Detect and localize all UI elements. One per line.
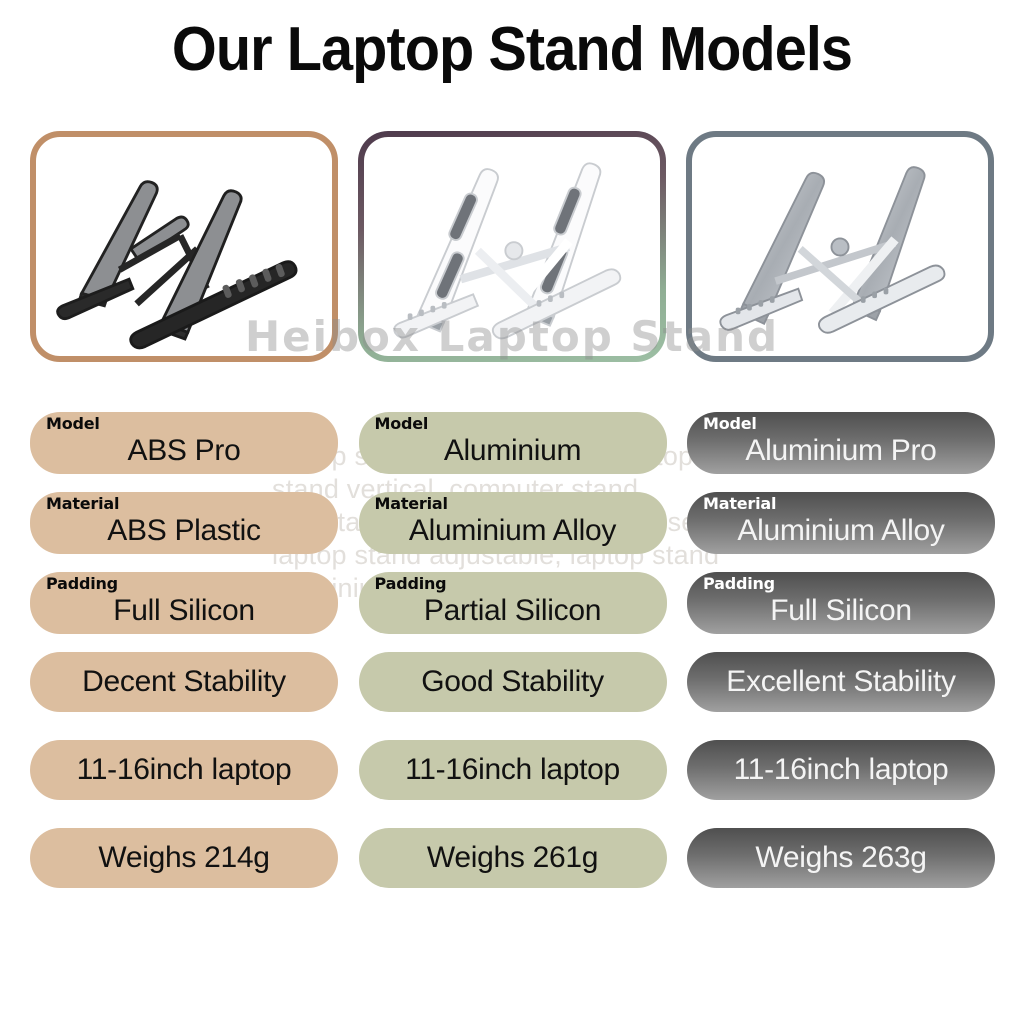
- laptop-stand-black-icon: [36, 137, 332, 356]
- pill-value-compatibility: 11-16inch laptop: [77, 753, 292, 787]
- pill-stability-abs-pro[interactable]: Decent Stability: [30, 652, 338, 712]
- spec-cell-weight-aluminium: Weighs 261g: [359, 828, 667, 888]
- spec-cell-stability-abs-pro: Decent Stability: [30, 652, 338, 712]
- pill-label-material: Material: [703, 495, 776, 513]
- spec-cell-model-aluminium: Model Aluminium: [359, 412, 667, 474]
- spec-cell-compatibility-aluminium: 11-16inch laptop: [359, 740, 667, 800]
- spec-row-weight: Weighs 214g Weighs 261g Weighs 263g: [30, 828, 995, 888]
- pill-value-weight: Weighs 261g: [427, 841, 598, 875]
- pill-padding-aluminium[interactable]: Padding Partial Silicon: [359, 572, 667, 634]
- spec-row-model: Model ABS Pro Model Aluminium Model Alum…: [30, 412, 995, 474]
- pill-label-material: Material: [375, 495, 448, 513]
- pill-label-model: Model: [375, 415, 429, 433]
- spec-row-material: Material ABS Plastic Material Aluminium …: [30, 492, 995, 554]
- pill-material-abs-pro[interactable]: Material ABS Plastic: [30, 492, 338, 554]
- spec-cell-material-abs-pro: Material ABS Plastic: [30, 492, 338, 554]
- pill-compatibility-aluminium-pro[interactable]: 11-16inch laptop: [687, 740, 995, 800]
- spec-cell-weight-aluminium-pro: Weighs 263g: [687, 828, 995, 888]
- spec-cell-weight-abs-pro: Weighs 214g: [30, 828, 338, 888]
- spec-row-padding: Padding Full Silicon Padding Partial Sil…: [30, 572, 995, 634]
- pill-value-weight: Weighs 263g: [755, 841, 926, 875]
- pill-weight-aluminium-pro[interactable]: Weighs 263g: [687, 828, 995, 888]
- spec-cell-padding-abs-pro: Padding Full Silicon: [30, 572, 338, 634]
- pill-value-weight: Weighs 214g: [98, 841, 269, 875]
- product-image-frame-abs-pro[interactable]: [30, 131, 338, 362]
- pill-value-padding: Full Silicon: [113, 578, 254, 628]
- pill-padding-aluminium-pro[interactable]: Padding Full Silicon: [687, 572, 995, 634]
- spec-cell-material-aluminium-pro: Material Aluminium Alloy: [687, 492, 995, 554]
- laptop-stand-white-icon: [364, 137, 660, 356]
- pill-model-abs-pro[interactable]: Model ABS Pro: [30, 412, 338, 474]
- spec-cell-padding-aluminium-pro: Padding Full Silicon: [687, 572, 995, 634]
- spec-cell-stability-aluminium: Good Stability: [359, 652, 667, 712]
- product-image-row: [30, 131, 994, 362]
- pill-value-stability: Excellent Stability: [726, 665, 955, 699]
- pill-weight-abs-pro[interactable]: Weighs 214g: [30, 828, 338, 888]
- spec-cell-padding-aluminium: Padding Partial Silicon: [359, 572, 667, 634]
- product-image-frame-aluminium-pro[interactable]: [686, 131, 994, 362]
- spec-comparison-grid: Model ABS Pro Model Aluminium Model Alum…: [30, 412, 995, 916]
- pill-compatibility-abs-pro[interactable]: 11-16inch laptop: [30, 740, 338, 800]
- pill-value-padding: Full Silicon: [770, 578, 911, 628]
- spec-cell-compatibility-abs-pro: 11-16inch laptop: [30, 740, 338, 800]
- pill-value-model: Aluminium: [444, 418, 581, 468]
- pill-value-model: ABS Pro: [128, 418, 241, 468]
- pill-label-model: Model: [703, 415, 757, 433]
- pill-label-padding: Padding: [375, 575, 447, 593]
- page-title: Our Laptop Stand Models: [36, 14, 988, 85]
- pill-stability-aluminium[interactable]: Good Stability: [359, 652, 667, 712]
- pill-label-material: Material: [46, 495, 119, 513]
- pill-value-stability: Good Stability: [421, 665, 604, 699]
- pill-value-compatibility: 11-16inch laptop: [734, 753, 949, 787]
- pill-value-model: Aluminium Pro: [745, 418, 936, 468]
- spec-row-compatibility: 11-16inch laptop 11-16inch laptop 11-16i…: [30, 740, 995, 800]
- pill-stability-aluminium-pro[interactable]: Excellent Stability: [687, 652, 995, 712]
- pill-weight-aluminium[interactable]: Weighs 261g: [359, 828, 667, 888]
- product-image-frame-aluminium[interactable]: [358, 131, 666, 362]
- pill-label-padding: Padding: [46, 575, 118, 593]
- pill-label-model: Model: [46, 415, 100, 433]
- pill-compatibility-aluminium[interactable]: 11-16inch laptop: [359, 740, 667, 800]
- pill-material-aluminium-pro[interactable]: Material Aluminium Alloy: [687, 492, 995, 554]
- pill-value-padding: Partial Silicon: [424, 578, 601, 628]
- spec-cell-model-abs-pro: Model ABS Pro: [30, 412, 338, 474]
- laptop-stand-silver-icon: [692, 137, 988, 356]
- pill-value-compatibility: 11-16inch laptop: [405, 753, 620, 787]
- pill-value-stability: Decent Stability: [82, 665, 286, 699]
- pill-model-aluminium[interactable]: Model Aluminium: [359, 412, 667, 474]
- spec-row-stability: Decent Stability Good Stability Excellen…: [30, 652, 995, 712]
- pill-model-aluminium-pro[interactable]: Model Aluminium Pro: [687, 412, 995, 474]
- pill-material-aluminium[interactable]: Material Aluminium Alloy: [359, 492, 667, 554]
- spec-cell-compatibility-aluminium-pro: 11-16inch laptop: [687, 740, 995, 800]
- pill-padding-abs-pro[interactable]: Padding Full Silicon: [30, 572, 338, 634]
- pill-label-padding: Padding: [703, 575, 775, 593]
- spec-cell-material-aluminium: Material Aluminium Alloy: [359, 492, 667, 554]
- spec-cell-stability-aluminium-pro: Excellent Stability: [687, 652, 995, 712]
- spec-cell-model-aluminium-pro: Model Aluminium Pro: [687, 412, 995, 474]
- pill-value-material: ABS Plastic: [107, 498, 260, 548]
